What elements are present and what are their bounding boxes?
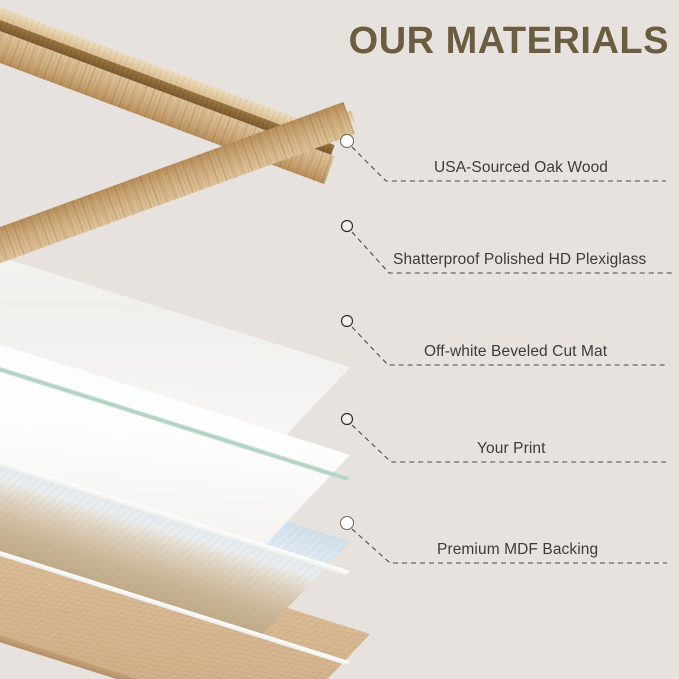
marker-plexiglass	[342, 221, 353, 232]
callout-label-plexiglass: Shatterproof Polished HD Plexiglass	[393, 251, 646, 269]
marker-mat	[342, 316, 353, 327]
marker-mdf-backing	[341, 517, 354, 530]
callout-label-print: Your Print	[477, 440, 546, 458]
callout-label-mat: Off-white Beveled Cut Mat	[424, 343, 607, 361]
infographic-canvas: OUR MATERIALS USA-Sourced Oak Wood Shatt…	[0, 0, 679, 679]
callout-label-oak-wood: USA-Sourced Oak Wood	[434, 159, 608, 177]
page-title: OUR MATERIALS	[349, 20, 669, 63]
callout-label-mdf-backing: Premium MDF Backing	[437, 541, 598, 559]
marker-print	[342, 414, 353, 425]
